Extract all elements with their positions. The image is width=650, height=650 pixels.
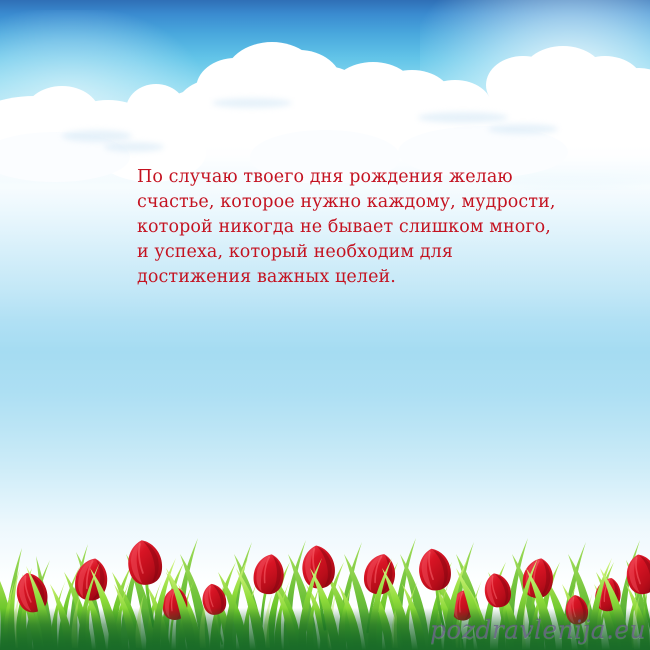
greeting-text: По случаю твоего дня рождения желаю счас… bbox=[137, 165, 557, 290]
greeting-card: По случаю твоего дня рождения желаю счас… bbox=[0, 0, 650, 650]
meadow bbox=[0, 510, 650, 650]
grass-base-shadow bbox=[0, 608, 650, 650]
